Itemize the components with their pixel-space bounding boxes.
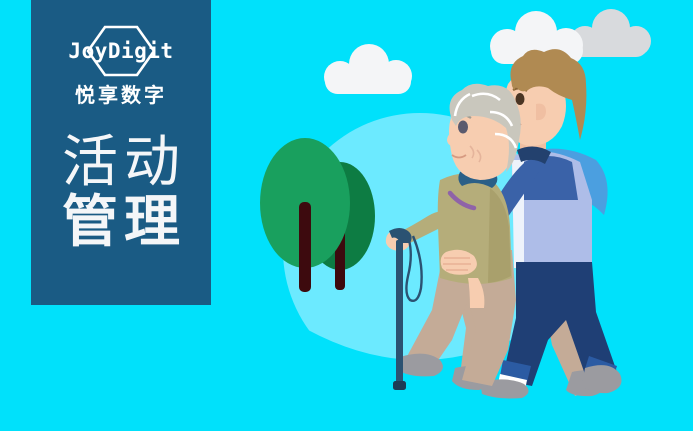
logo-block: JoyDigit (46, 25, 196, 77)
brand-panel: JoyDigit 悦享数字 活动 管理 (31, 0, 211, 305)
page-title-line-1: 活动 (56, 132, 186, 192)
young-man-eye (516, 93, 525, 105)
logo-chinese-name: 悦享数字 (75, 86, 167, 106)
woman-eye (458, 121, 468, 134)
page-title-line-2: 管理 (56, 192, 186, 252)
poster-canvas: JoyDigit 悦享数字 活动 管理 (0, 0, 693, 431)
cane-shaft (396, 240, 403, 385)
cane-tip (393, 381, 406, 390)
page-title: 活动 管理 (56, 132, 186, 252)
logo-wordmark: JoyDigit (68, 41, 173, 62)
